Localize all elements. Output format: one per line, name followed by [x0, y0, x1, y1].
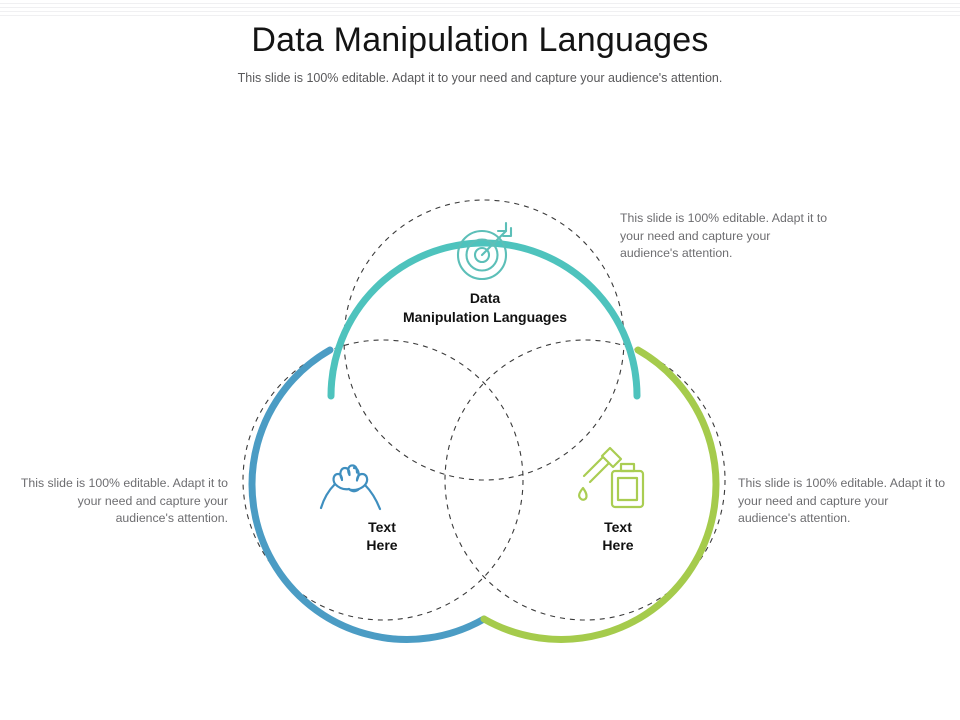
dropper-bottle-icon [579, 448, 643, 507]
venn-arc-top-teal [331, 243, 637, 396]
venn-arc-right-green [484, 350, 716, 639]
venn-diagram: Data Manipulation Languages Text Here Te… [0, 0, 960, 720]
handshake-icon [321, 465, 380, 509]
callout-text-left: This slide is 100% editable. Adapt it to… [16, 475, 228, 528]
slide-canvas: Data Manipulation Languages This slide i… [0, 0, 960, 720]
callout-text-right: This slide is 100% editable. Adapt it to… [738, 475, 950, 528]
target-arrow-icon [458, 223, 511, 279]
callout-text-top-right: This slide is 100% editable. Adapt it to… [620, 210, 832, 263]
venn-diagram-svg [0, 0, 960, 720]
venn-arc-left-blue [252, 350, 484, 639]
